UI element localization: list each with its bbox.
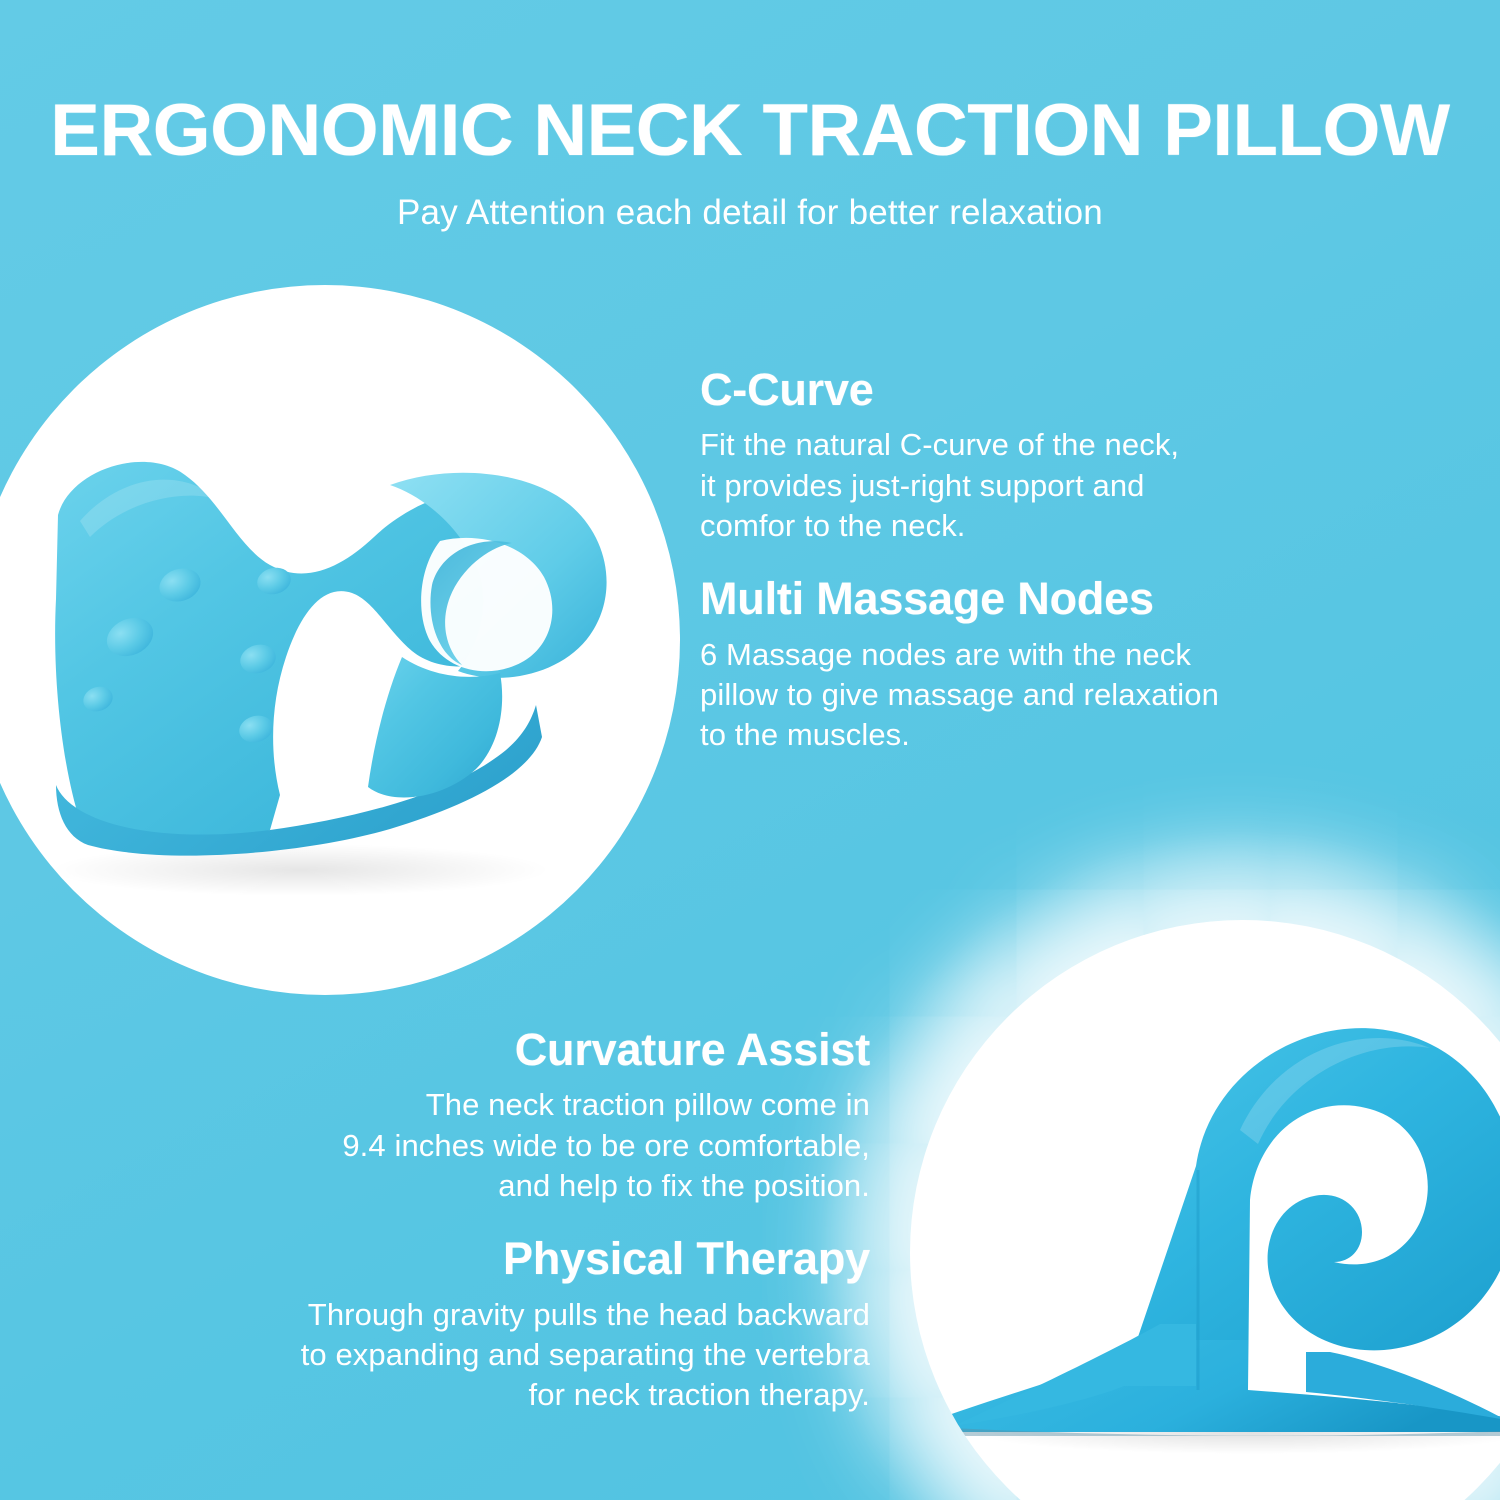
feature-body-line: comfor to the neck. (700, 506, 1380, 546)
feature-body-line: to the muscles. (700, 715, 1380, 755)
feature-multi-massage-nodes: Multi Massage Nodes 6 Massage nodes are … (700, 574, 1380, 755)
feature-body-line: it provides just-right support and (700, 466, 1380, 506)
feature-body-line: to expanding and separating the vertebra (130, 1335, 870, 1375)
feature-physical-therapy: Physical Therapy Through gravity pulls t… (130, 1234, 870, 1415)
page-subtitle: Pay Attention each detail for better rel… (0, 193, 1500, 233)
feature-body-line: 9.4 inches wide to be ore comfortable, (130, 1126, 870, 1166)
infographic-page: ERGONOMIC NECK TRACTION PILLOW Pay Atten… (0, 0, 1500, 1500)
feature-body-multi-massage-nodes: 6 Massage nodes are with the neck pillow… (700, 635, 1380, 756)
product-image-side-profile-view (910, 920, 1500, 1500)
neck-pillow-side-profile-svg (910, 920, 1500, 1500)
product-photo-bottom-right (910, 920, 1500, 1500)
feature-body-physical-therapy: Through gravity pulls the head backward … (130, 1295, 870, 1416)
feature-heading-multi-massage-nodes: Multi Massage Nodes (700, 574, 1380, 624)
feature-body-line: for neck traction therapy. (130, 1375, 870, 1415)
feature-curvature-assist: Curvature Assist The neck traction pillo… (130, 1025, 870, 1206)
header: ERGONOMIC NECK TRACTION PILLOW Pay Atten… (0, 0, 1500, 233)
feature-column-left: Curvature Assist The neck traction pillo… (130, 1025, 870, 1424)
feature-body-line: Through gravity pulls the head backward (130, 1295, 870, 1335)
page-title: ERGONOMIC NECK TRACTION PILLOW (0, 94, 1500, 167)
feature-body-line: 6 Massage nodes are with the neck (700, 635, 1380, 675)
feature-body-c-curve: Fit the natural C-curve of the neck, it … (700, 425, 1380, 546)
product-photo-top-left (0, 285, 680, 995)
neck-pillow-three-quarter-svg (0, 285, 680, 995)
feature-column-right: C-Curve Fit the natural C-curve of the n… (700, 365, 1380, 764)
product-image-three-quarter-view (0, 285, 680, 995)
feature-c-curve: C-Curve Fit the natural C-curve of the n… (700, 365, 1380, 546)
feature-heading-curvature-assist: Curvature Assist (130, 1025, 870, 1075)
feature-body-curvature-assist: The neck traction pillow come in 9.4 inc… (130, 1085, 870, 1206)
feature-body-line: Fit the natural C-curve of the neck, (700, 425, 1380, 465)
feature-heading-c-curve: C-Curve (700, 365, 1380, 415)
feature-body-line: and help to fix the position. (130, 1166, 870, 1206)
feature-heading-physical-therapy: Physical Therapy (130, 1234, 870, 1284)
feature-body-line: pillow to give massage and relaxation (700, 675, 1380, 715)
feature-body-line: The neck traction pillow come in (130, 1085, 870, 1125)
